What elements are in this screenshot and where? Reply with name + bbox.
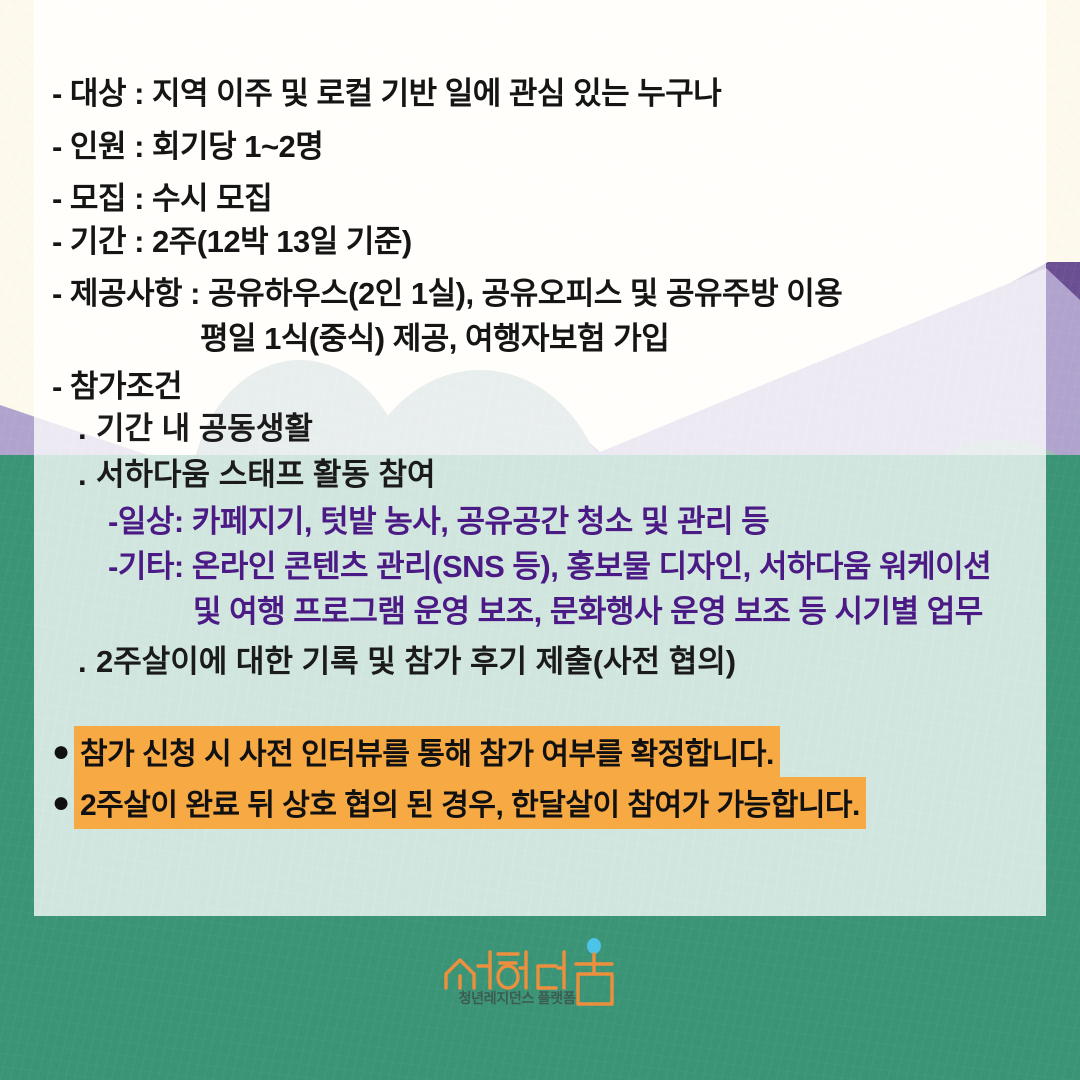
- logo-glyph-seo: [446, 952, 490, 988]
- notice-text: 2주살이 완료 뒤 상호 협의 된 경우, 한달살이 참여가 가능합니다.: [74, 777, 866, 829]
- condition-bullet: .: [78, 644, 96, 680]
- info-line-conditions-heading: - 참가조건: [52, 361, 182, 406]
- logo-glyph-um: [576, 938, 612, 1004]
- info-line-recruit: - 모집 : 수시 모집: [52, 173, 272, 218]
- condition-item-1: .기간 내 공동생활: [78, 403, 313, 448]
- logo-wordmark-icon: [442, 930, 638, 1008]
- condition-item-3: .2주살이에 대한 기록 및 참가 후기 제출(사전 협의): [78, 636, 736, 681]
- condition-sub-daily: -일상: 카페지기, 텃밭 농사, 공유공간 청소 및 관리 등: [108, 496, 769, 541]
- brand-logo: 청년레지던스 플랫폼: [0, 930, 1080, 1008]
- info-line-headcount: - 인원 : 회기당 1~2명: [52, 121, 323, 166]
- condition-sub-other: -기타: 온라인 콘텐츠 관리(SNS 등), 홍보물 디자인, 서하다움 워케…: [108, 541, 991, 586]
- notice-bullet-icon: ●: [52, 788, 74, 818]
- condition-item-2: .서하다움 스태프 활동 참여: [78, 449, 436, 494]
- condition-label: 서하다움 스태프 활동 참여: [96, 457, 436, 492]
- condition-bullet: .: [78, 457, 96, 493]
- info-line-target: - 대상 : 지역 이주 및 로컬 기반 일에 관심 있는 누구나: [52, 68, 721, 113]
- condition-label: 기간 내 공동생활: [96, 411, 313, 446]
- logo-glyph-ha: [498, 952, 526, 988]
- info-line-provisions: - 제공사항 : 공유하우스(2인 1실), 공유오피스 및 공유주방 이용: [52, 268, 842, 313]
- condition-sub-other-continued: 및 여행 프로그램 운영 보조, 문화행사 운영 보조 등 시기별 업무: [193, 586, 983, 631]
- info-line-provisions-continued: 평일 1식(중식) 제공, 여행자보험 가입: [200, 313, 669, 358]
- poster-canvas: - 대상 : 지역 이주 및 로컬 기반 일에 관심 있는 누구나 - 인원 :…: [0, 0, 1080, 1080]
- content-text-layer: - 대상 : 지역 이주 및 로컬 기반 일에 관심 있는 누구나 - 인원 :…: [0, 0, 1080, 1080]
- notice-bullet-icon: ●: [52, 737, 74, 767]
- condition-label: 2주살이에 대한 기록 및 참가 후기 제출(사전 협의): [96, 644, 736, 679]
- info-line-period: - 기간 : 2주(12박 13일 기준): [52, 216, 412, 261]
- logo-glyph-da: [538, 952, 564, 988]
- condition-bullet: .: [78, 411, 96, 447]
- notice-row-1: ● 참가 신청 시 사전 인터뷰를 통해 참가 여부를 확정합니다.: [52, 726, 780, 778]
- notice-row-2: ● 2주살이 완료 뒤 상호 협의 된 경우, 한달살이 참여가 가능합니다.: [52, 777, 866, 829]
- notice-text: 참가 신청 시 사전 인터뷰를 통해 참가 여부를 확정합니다.: [74, 726, 780, 778]
